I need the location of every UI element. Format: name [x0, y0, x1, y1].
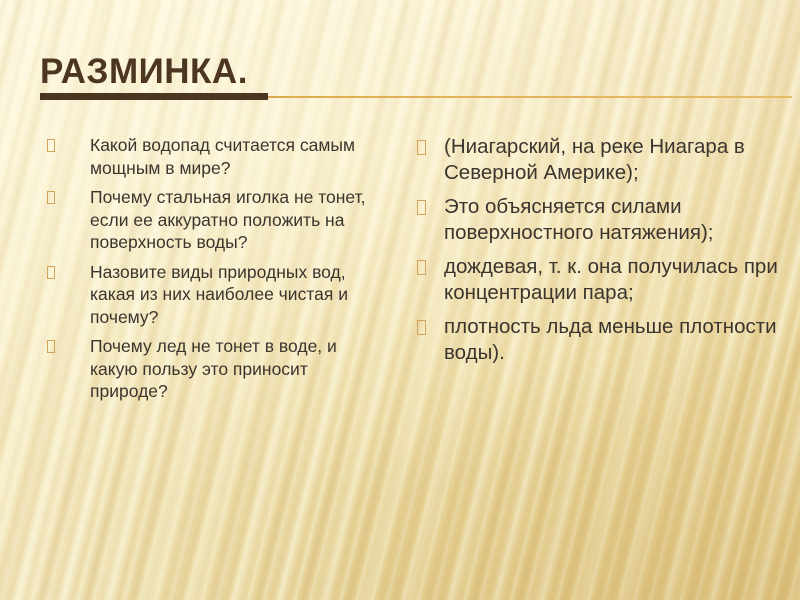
page-title: РАЗМИНКА. [40, 52, 248, 92]
slide-canvas: РАЗМИНКА. Какой водопад считается самым … [0, 0, 800, 600]
hollow-square-bullet-icon [417, 320, 426, 335]
right-column: (Ниагарский, на реке Ниагара в Северной … [410, 134, 790, 374]
list-item: плотность льда меньше плотности воды). [410, 314, 790, 365]
list-item-text: Это объясняется силами поверхностного на… [444, 194, 790, 245]
list-item-text: дождевая, т. к. она получилась при конце… [444, 254, 790, 305]
hollow-square-bullet-icon [417, 140, 426, 155]
list-item: Это объясняется силами поверхностного на… [410, 194, 790, 245]
hollow-square-bullet-icon [417, 260, 426, 275]
hollow-square-bullet-icon [47, 191, 55, 204]
hollow-square-bullet-icon [47, 139, 55, 152]
list-item-text: плотность льда меньше плотности воды). [444, 314, 790, 365]
list-item-text: (Ниагарский, на реке Ниагара в Северной … [444, 134, 790, 185]
hollow-square-bullet-icon [47, 340, 55, 353]
list-item-text: Почему стальная иголка не тонет, если ее… [90, 186, 388, 254]
hollow-square-bullet-icon [47, 266, 55, 279]
list-item-text: Какой водопад считается самым мощным в м… [90, 134, 388, 179]
list-item: Почему лед не тонет в воде, и какую поль… [36, 335, 388, 403]
list-item: (Ниагарский, на реке Ниагара в Северной … [410, 134, 790, 185]
title-underline [40, 93, 268, 100]
slide-title-block: РАЗМИНКА. [0, 52, 800, 104]
list-item: Назовите виды природных вод, какая из ни… [36, 261, 388, 329]
list-item: Почему стальная иголка не тонет, если ее… [36, 186, 388, 254]
left-column: Какой водопад считается самым мощным в м… [36, 134, 388, 410]
hollow-square-bullet-icon [417, 200, 426, 215]
list-item: Какой водопад считается самым мощным в м… [36, 134, 388, 179]
list-item-text: Назовите виды природных вод, какая из ни… [90, 261, 388, 329]
list-item: дождевая, т. к. она получилась при конце… [410, 254, 790, 305]
list-item-text: Почему лед не тонет в воде, и какую поль… [90, 335, 388, 403]
